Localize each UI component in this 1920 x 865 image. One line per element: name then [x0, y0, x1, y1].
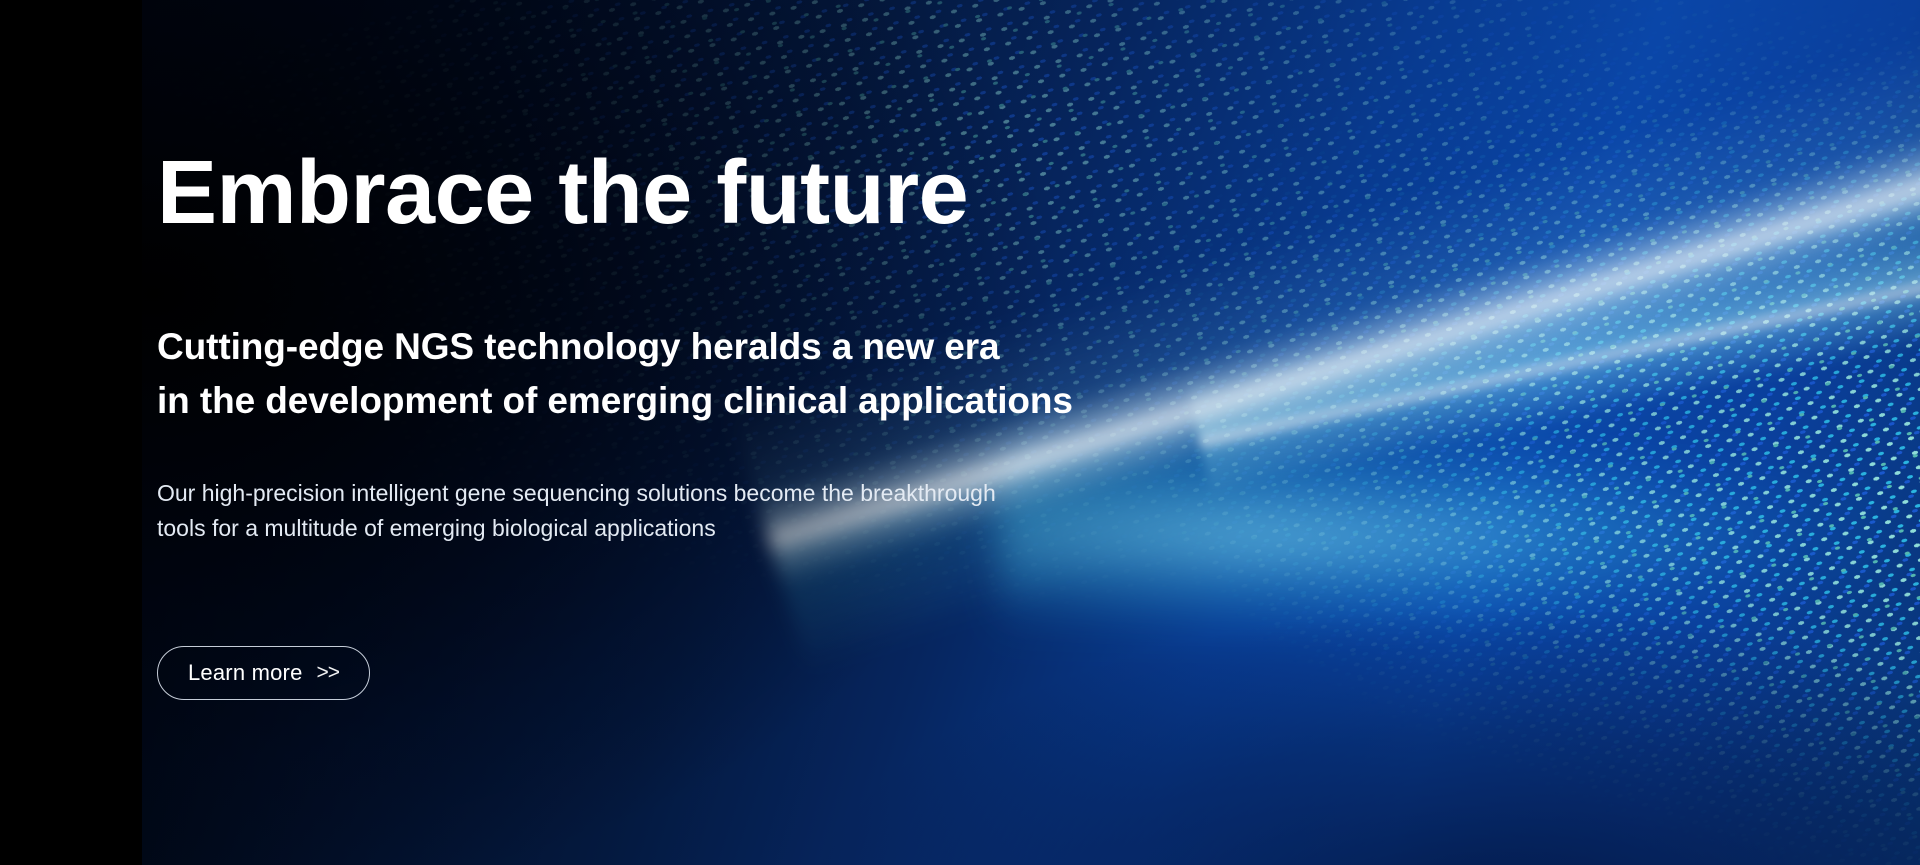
- background-gradient: [142, 0, 1920, 865]
- left-black-band: [0, 0, 142, 865]
- left-vignette: [0, 0, 1920, 865]
- double-chevron-right-icon: >>: [317, 661, 340, 685]
- dot-layer-mint: [0, 0, 1920, 865]
- dot-layer-mint-sparse: [0, 0, 1920, 865]
- learn-more-button[interactable]: Learn more >>: [157, 646, 370, 700]
- particle-grid-sparse: [0, 0, 1920, 865]
- dot-layer-teal: [0, 0, 1920, 865]
- dot-layer-teal-sparse: [0, 0, 1920, 865]
- particle-swoosh-band: [0, 0, 1920, 865]
- subheadline-line-2: in the development of emerging clinical …: [157, 374, 1073, 428]
- hero-body-copy: Our high-precision intelligent gene sequ…: [157, 476, 996, 546]
- hero-subheadline: Cutting-edge NGS technology heralds a ne…: [157, 320, 1073, 427]
- learn-more-label: Learn more: [188, 660, 303, 686]
- particle-field-sparse: [0, 0, 1920, 865]
- dot-layer-blue-sparse: [0, 0, 1920, 865]
- dot-layer-blue: [0, 0, 1920, 865]
- glow-layer: [0, 0, 1920, 865]
- page-title: Embrace the future: [157, 148, 968, 240]
- body-line-2: tools for a multitude of emerging biolog…: [157, 511, 996, 546]
- dot-layer-cyan: [0, 0, 1920, 865]
- particle-field: [0, 0, 1920, 865]
- glow-tail: [1187, 212, 1920, 497]
- hero-banner: Embrace the future Cutting-edge NGS tech…: [0, 0, 1920, 865]
- subheadline-line-1: Cutting-edge NGS technology heralds a ne…: [157, 320, 1073, 374]
- lower-shade: [0, 0, 1920, 865]
- particle-grid: [0, 0, 1920, 865]
- body-line-1: Our high-precision intelligent gene sequ…: [157, 476, 996, 511]
- glow-core: [998, 436, 1881, 636]
